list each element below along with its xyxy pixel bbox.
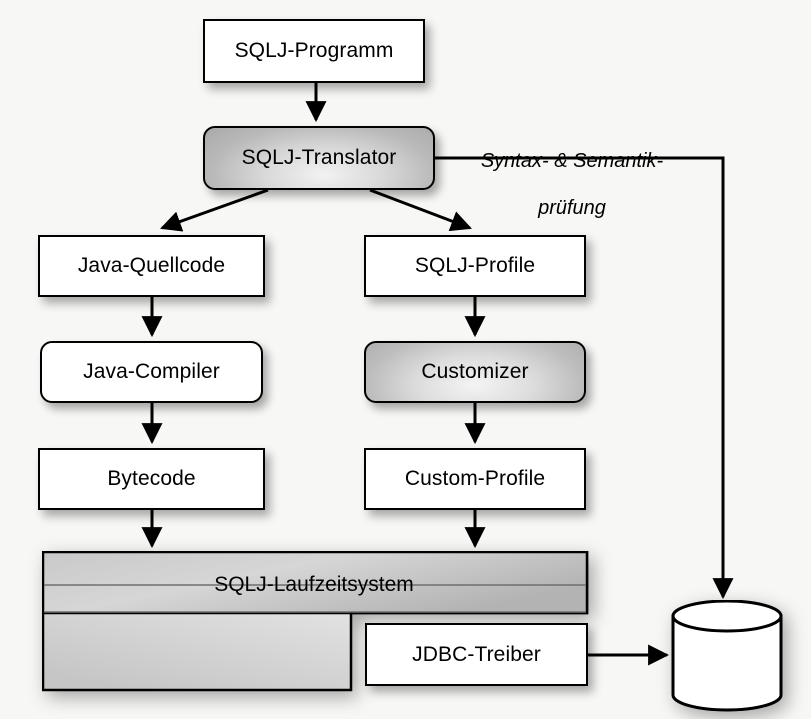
node-sqlj-profile[interactable]: SQLJ-Profile: [364, 235, 586, 297]
node-bytecode[interactable]: Bytecode: [38, 448, 265, 510]
annotation-syntax-semantik-pruefung: Syntax- & Semantik- prüfung: [452, 126, 692, 244]
node-sqlj-programm[interactable]: SQLJ-Programm: [203, 19, 425, 83]
node-java-compiler[interactable]: Java-Compiler: [40, 341, 263, 403]
node-custom-profile[interactable]: Custom-Profile: [364, 448, 586, 510]
node-label: Java-Compiler: [83, 360, 220, 384]
node-label: Bytecode: [107, 467, 195, 491]
annotation-line-1: Syntax- & Semantik-: [452, 150, 692, 174]
annotation-line-2: prüfung: [452, 197, 692, 221]
laufzeitsystem-label: SQLJ-Laufzeitsystem: [42, 573, 586, 597]
node-jdbc-treiber[interactable]: JDBC-Treiber: [365, 623, 588, 686]
node-label: SQLJ-Translator: [242, 146, 397, 170]
database-cylinder-icon: [669, 600, 787, 718]
edge-translator-to-quellcode: [162, 190, 268, 228]
diagram-canvas: SQLJ-Programm SQLJ-Translator Java-Quell…: [0, 0, 811, 719]
node-label: Java-Quellcode: [78, 254, 225, 278]
node-customizer[interactable]: Customizer: [364, 341, 586, 403]
node-label: Customizer: [421, 360, 528, 384]
node-datenbank[interactable]: [669, 600, 787, 718]
node-label: JDBC-Treiber: [412, 643, 541, 667]
node-label: SQLJ-Programm: [235, 39, 394, 63]
node-sqlj-translator[interactable]: SQLJ-Translator: [203, 126, 435, 190]
node-label: Custom-Profile: [405, 467, 545, 491]
node-label: SQLJ-Profile: [415, 254, 535, 278]
node-java-quellcode[interactable]: Java-Quellcode: [38, 235, 265, 297]
